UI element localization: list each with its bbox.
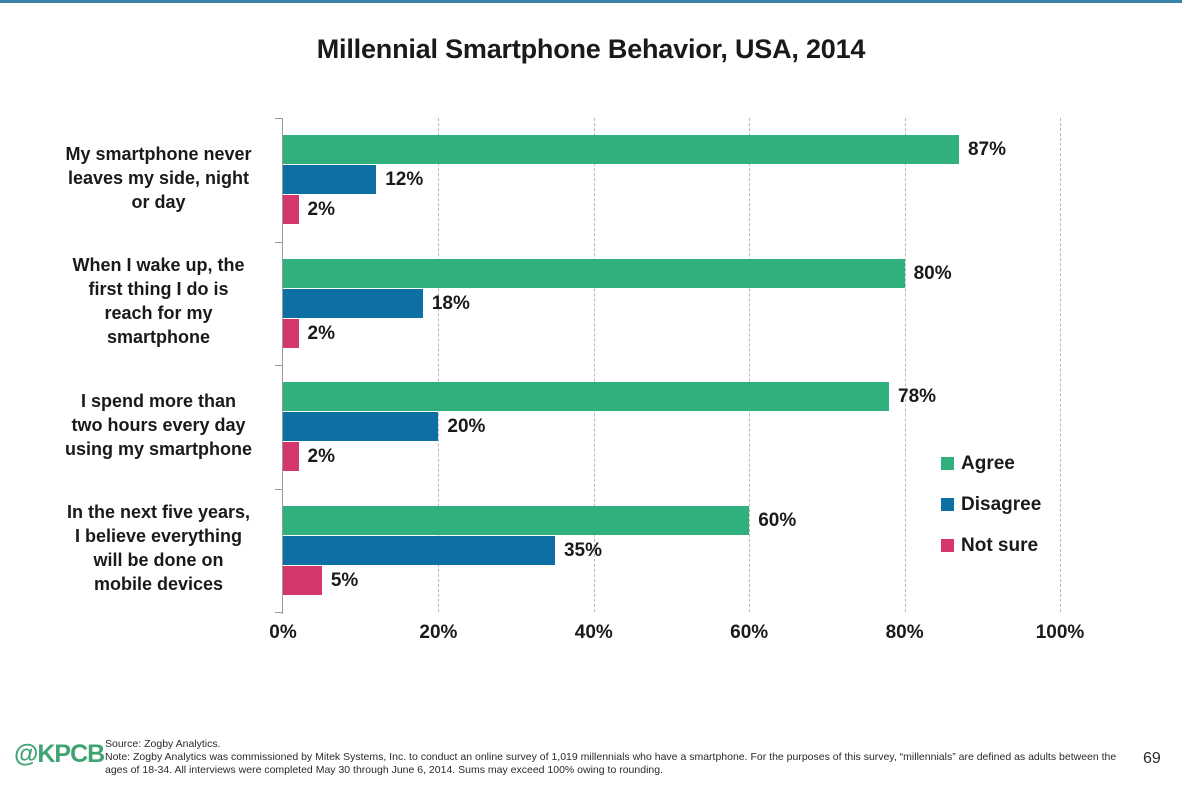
chart-legend: AgreeDisagreeNot sure <box>941 443 1111 566</box>
legend-swatch-icon <box>941 457 954 470</box>
x-tick-label: 100% <box>1015 622 1105 644</box>
bar-not-sure[interactable] <box>283 195 299 224</box>
bar-value-label: 78% <box>898 382 936 411</box>
category-label-line: I believe everything <box>75 526 242 546</box>
category-label-column: My smartphone neverleaves my side, night… <box>35 118 275 612</box>
category-label-line: smartphone <box>107 327 210 347</box>
category-label-line: When I wake up, the <box>72 255 244 275</box>
page-title: Millennial Smartphone Behavior, USA, 201… <box>0 34 1182 65</box>
category-label-line: My smartphone never <box>65 144 251 164</box>
y-axis-group-tick <box>275 365 283 366</box>
x-tick-label: 0% <box>238 622 328 644</box>
category-label: I spend more thantwo hours every dayusin… <box>42 389 275 461</box>
bar-value-label: 20% <box>447 412 485 441</box>
y-axis-cap <box>275 118 283 119</box>
y-axis-group-tick <box>275 489 283 490</box>
bar-disagree[interactable] <box>283 412 438 441</box>
bar-disagree[interactable] <box>283 165 376 194</box>
bar-value-label: 5% <box>331 566 358 595</box>
legend-item[interactable]: Agree <box>941 443 1111 484</box>
kpcb-logo: @KPCB <box>14 740 104 769</box>
category-label-line: I spend more than <box>81 391 236 411</box>
top-divider-rule <box>0 0 1182 3</box>
category-label-line: reach for my <box>104 303 212 323</box>
y-axis-group-tick <box>275 242 283 243</box>
category-label-line: or day <box>131 192 185 212</box>
slide-footer: @KPCB Source: Zogby Analytics. Note: Zog… <box>0 735 1182 791</box>
x-axis-tick-labels: 0%20%40%60%80%100% <box>0 622 1182 652</box>
bar-value-label: 60% <box>758 506 796 535</box>
page-number: 69 <box>1143 750 1161 768</box>
category-label-line: will be done on <box>94 550 224 570</box>
legend-label: Not sure <box>961 535 1038 557</box>
bar-disagree[interactable] <box>283 536 555 565</box>
y-axis-cap <box>275 612 283 613</box>
legend-swatch-icon <box>941 498 954 511</box>
x-tick-label: 80% <box>860 622 950 644</box>
bar-group: 80%18%2% <box>283 259 1060 348</box>
bar-agree[interactable] <box>283 135 959 164</box>
category-label-line: mobile devices <box>94 574 223 594</box>
bar-agree[interactable] <box>283 382 889 411</box>
legend-swatch-icon <box>941 539 954 552</box>
category-label-line: In the next five years, <box>67 502 250 522</box>
bar-value-label: 80% <box>914 259 952 288</box>
bar-value-label: 2% <box>308 319 335 348</box>
source-line: Source: Zogby Analytics. <box>105 738 1135 751</box>
category-label-line: two hours every day <box>71 415 245 435</box>
category-label-line: first thing I do is <box>89 279 229 299</box>
note-line: Note: Zogby Analytics was commissioned b… <box>105 751 1135 777</box>
bar-agree[interactable] <box>283 506 749 535</box>
x-tick-label: 60% <box>704 622 794 644</box>
bar-not-sure[interactable] <box>283 566 322 595</box>
category-label-line: leaves my side, night <box>68 168 249 188</box>
legend-label: Disagree <box>961 494 1041 516</box>
x-tick-label: 20% <box>393 622 483 644</box>
bar-value-label: 87% <box>968 135 1006 164</box>
bar-not-sure[interactable] <box>283 319 299 348</box>
bar-not-sure[interactable] <box>283 442 299 471</box>
legend-item[interactable]: Disagree <box>941 484 1111 525</box>
bar-value-label: 35% <box>564 536 602 565</box>
bar-agree[interactable] <box>283 259 905 288</box>
bar-value-label: 2% <box>308 442 335 471</box>
x-tick-label: 40% <box>549 622 639 644</box>
category-label-line: using my smartphone <box>65 439 252 459</box>
bar-group: 87%12%2% <box>283 135 1060 224</box>
legend-label: Agree <box>961 453 1015 475</box>
category-label: When I wake up, thefirst thing I do isre… <box>42 253 275 349</box>
category-label: My smartphone neverleaves my side, night… <box>42 142 275 214</box>
footnotes: Source: Zogby Analytics. Note: Zogby Ana… <box>105 738 1135 777</box>
bar-value-label: 18% <box>432 289 470 318</box>
category-label: In the next five years,I believe everyth… <box>42 500 275 596</box>
bar-value-label: 2% <box>308 195 335 224</box>
bar-disagree[interactable] <box>283 289 423 318</box>
legend-item[interactable]: Not sure <box>941 525 1111 566</box>
bar-value-label: 12% <box>385 165 423 194</box>
